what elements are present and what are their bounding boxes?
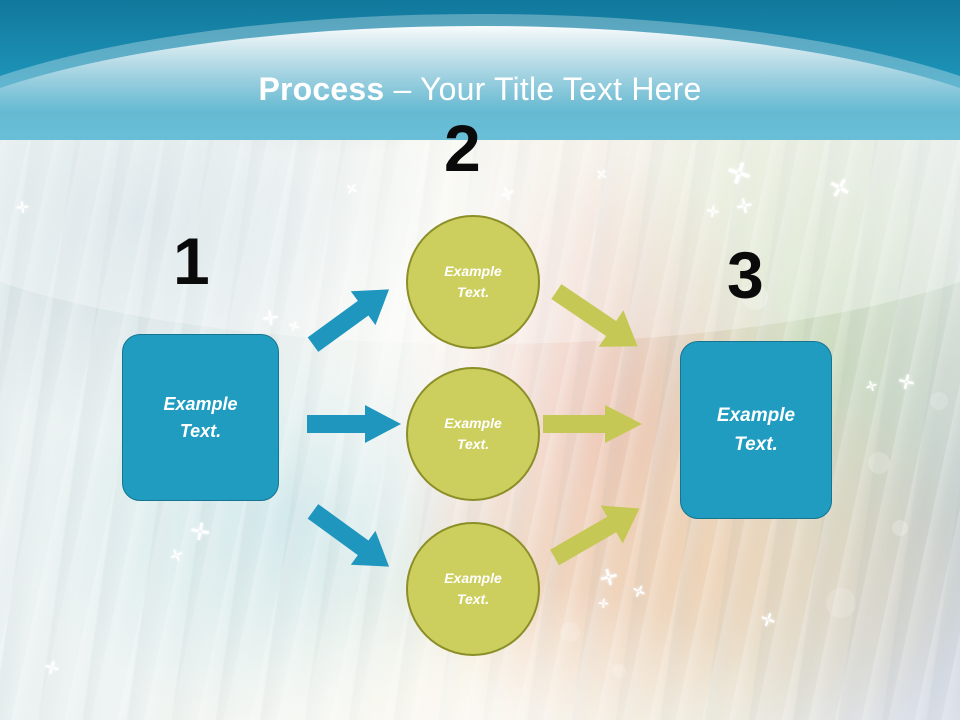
stage-1-box-line2: Text.: [163, 418, 237, 445]
stage-1-box-line1: Example: [163, 391, 237, 418]
arrow-up-right-icon: [542, 495, 652, 571]
step-number-2: 2: [444, 115, 481, 181]
stage-2-circle-bottom-line2: Text.: [444, 589, 502, 610]
process-diagram: 1 2 3 Example Text. Example Text. Exampl…: [0, 0, 960, 720]
stage-2-circle-middle[interactable]: Example Text.: [406, 367, 540, 501]
stage-2-circle-middle-label: Example Text.: [444, 413, 502, 455]
stage-2-circle-top-line2: Text.: [444, 282, 502, 303]
stage-2-circle-bottom-line1: Example: [444, 568, 502, 589]
stage-2-circle-bottom-label: Example Text.: [444, 568, 502, 610]
stage-2-circle-bottom[interactable]: Example Text.: [406, 522, 540, 656]
stage-3-box-line1: Example: [717, 401, 795, 430]
stage-2-circle-middle-line2: Text.: [444, 434, 502, 455]
stage-1-box-label: Example Text.: [163, 391, 237, 445]
stage-3-box[interactable]: Example Text.: [680, 341, 832, 519]
arrow-down-right-icon: [542, 281, 652, 357]
slide-canvas: ✛ ✛ ✛ ✛ ✛ ✛ ✛ ✛ ✛ ✛ ✛ ✛ ✛ ✛ ✛ ✛ ✛ ✛ ✛ ✛ …: [0, 0, 960, 720]
stage-2-circle-middle-line1: Example: [444, 413, 502, 434]
step-number-3: 3: [727, 242, 764, 308]
arrow-up-right-icon: [300, 281, 402, 353]
stage-3-box-line2: Text.: [717, 430, 795, 459]
arrow-right-icon: [543, 403, 643, 445]
stage-2-circle-top[interactable]: Example Text.: [406, 215, 540, 349]
stage-2-circle-top-line1: Example: [444, 261, 502, 282]
arrow-right-icon: [307, 403, 402, 445]
stage-2-circle-top-label: Example Text.: [444, 261, 502, 303]
stage-3-box-label: Example Text.: [717, 401, 795, 460]
arrow-down-right-icon: [300, 503, 402, 575]
step-number-1: 1: [173, 228, 210, 294]
stage-1-box[interactable]: Example Text.: [122, 334, 279, 501]
